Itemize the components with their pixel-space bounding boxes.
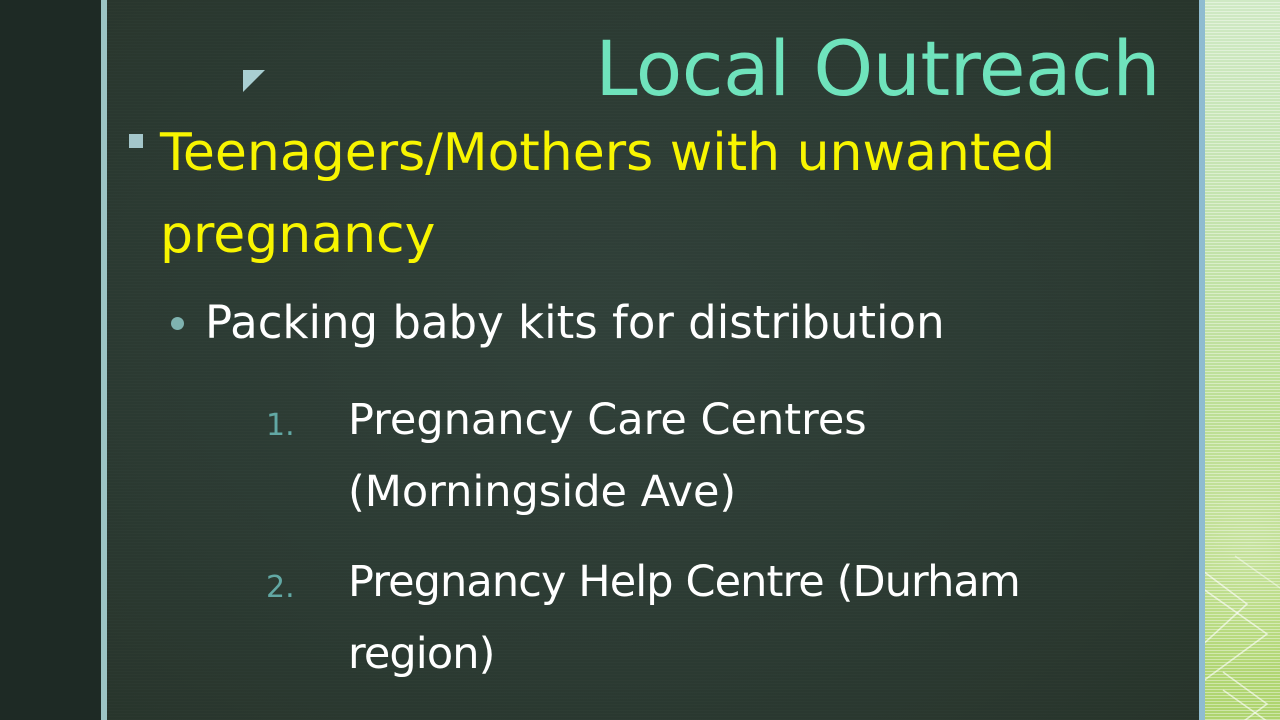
list-item-text: Pregnancy Care Centres (Morningside Ave) bbox=[266, 384, 1126, 528]
bullet-level2: Packing baby kits for distribution bbox=[168, 292, 1178, 354]
round-bullet-icon bbox=[171, 317, 184, 330]
right-green-panel bbox=[1205, 0, 1280, 720]
chevron-outline-decoration-icon bbox=[1205, 0, 1280, 720]
list-item-number: 1. bbox=[266, 390, 312, 462]
bullet-level1: Teenagers/Mothers with unwanted pregnanc… bbox=[126, 112, 1136, 276]
list-item-text: Pregnancy Help Centre (Durham region) bbox=[266, 546, 1126, 690]
bullet-level1-text: Teenagers/Mothers with unwanted pregnanc… bbox=[126, 112, 1120, 276]
list-item-number: 2. bbox=[266, 552, 312, 624]
square-bullet-icon bbox=[129, 134, 143, 148]
presentation-slide: Local Outreach Teenagers/Mothers with un… bbox=[0, 0, 1280, 720]
slide-body: Teenagers/Mothers with unwanted pregnanc… bbox=[0, 0, 1200, 720]
numbered-list-item: 2. Pregnancy Help Centre (Durham region) bbox=[266, 546, 1126, 690]
bullet-level2-text: Packing baby kits for distribution bbox=[168, 292, 1178, 354]
numbered-list-item: 1. Pregnancy Care Centres (Morningside A… bbox=[266, 384, 1126, 528]
